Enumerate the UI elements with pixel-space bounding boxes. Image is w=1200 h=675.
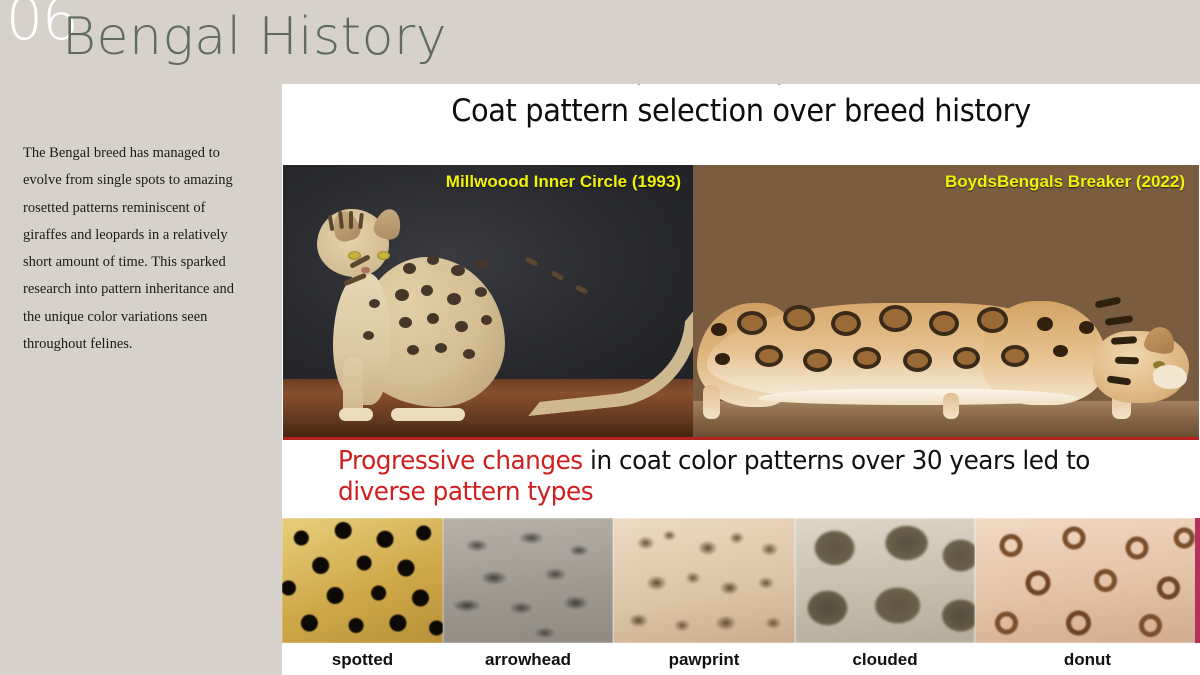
spotted-texture xyxy=(282,518,443,643)
clouded-texture xyxy=(795,518,975,643)
photo-comparison-row: Millwoood Inner Circle (1993) xyxy=(283,165,1199,437)
bengal-cat-1993-illustration xyxy=(299,193,629,421)
embedded-slide: This slide is used with permission from … xyxy=(282,84,1200,675)
pattern-label-donut: donut xyxy=(975,644,1200,675)
pawprint-texture xyxy=(613,518,795,643)
bengal-cat-2022-illustration xyxy=(697,277,1189,419)
swatch-pawprint xyxy=(613,518,795,643)
swatch-spotted xyxy=(282,518,443,643)
pattern-label-arrowhead: arrowhead xyxy=(443,644,613,675)
caption-highlight-1: Progressive changes xyxy=(338,446,583,476)
donut-texture xyxy=(975,518,1200,643)
slide-caption: Progressive changes in coat color patter… xyxy=(338,446,1117,508)
swatch-clouded xyxy=(795,518,975,643)
pattern-swatch-row xyxy=(282,518,1200,643)
page-title: Bengal History xyxy=(62,8,447,68)
photo-1993: Millwoood Inner Circle (1993) xyxy=(283,165,693,437)
slide-headline: Coat pattern selection over breed histor… xyxy=(314,93,1168,129)
pattern-label-pawprint: pawprint xyxy=(613,644,795,675)
photo-caption-2022: BoydsBengals Breaker (2022) xyxy=(945,172,1185,192)
body-paragraph: The Bengal breed has managed to evolve f… xyxy=(23,140,251,358)
photo-row-underline xyxy=(283,437,1199,440)
swatch-donut xyxy=(975,518,1200,643)
swatch-edge xyxy=(1195,518,1200,643)
swatch-arrowhead xyxy=(443,518,613,643)
pattern-label-row: spotted arrowhead pawprint clouded donut xyxy=(282,644,1200,675)
slide-credit-line: This slide is used with permission from … xyxy=(282,84,1200,85)
arrowhead-texture xyxy=(443,518,613,643)
photo-2022: BoydsBengals Breaker (2022) xyxy=(693,165,1199,437)
pattern-label-spotted: spotted xyxy=(282,644,443,675)
photo-caption-1993: Millwoood Inner Circle (1993) xyxy=(446,172,681,192)
pattern-label-clouded: clouded xyxy=(795,644,975,675)
caption-highlight-2: diverse pattern types xyxy=(338,477,593,507)
caption-middle: in coat color patterns over 30 years led… xyxy=(583,446,1090,476)
